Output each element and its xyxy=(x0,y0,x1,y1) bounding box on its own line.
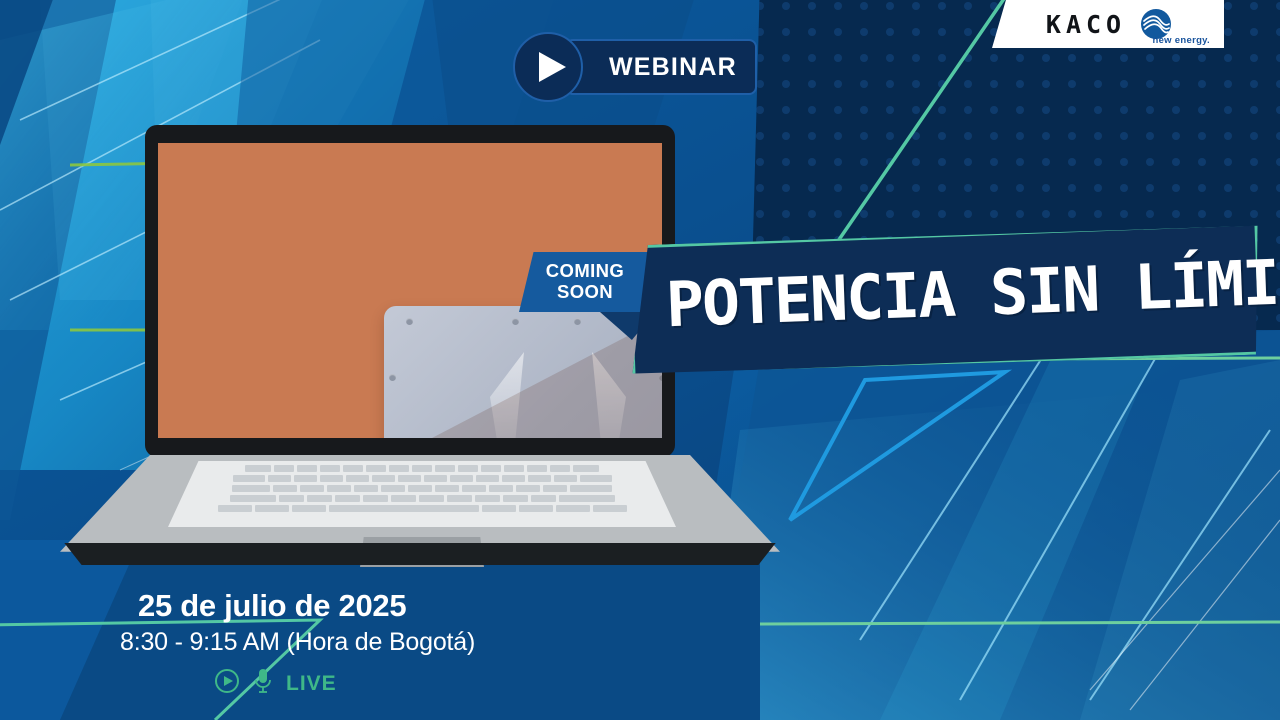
keyboard-row xyxy=(168,475,676,482)
kaco-logo: KACO new energy. xyxy=(992,0,1224,48)
keyboard-row xyxy=(168,505,676,512)
bolt-icon xyxy=(574,318,581,325)
webinar-label: WEBINAR xyxy=(609,53,737,82)
webinar-badge: WEBINAR xyxy=(513,32,761,102)
keyboard-row xyxy=(168,495,676,502)
microphone-icon xyxy=(254,667,272,700)
bolt-icon xyxy=(389,374,396,381)
coming-soon-line-2: SOON xyxy=(557,282,613,303)
kaco-wordmark: KACO xyxy=(1040,12,1126,37)
play-circle-icon xyxy=(214,668,240,699)
live-row: LIVE xyxy=(214,667,540,700)
bolt-icon xyxy=(406,318,413,325)
event-date: 25 de julio de 2025 xyxy=(138,588,540,624)
play-triangle-icon xyxy=(539,52,566,82)
keyboard-row xyxy=(168,465,676,472)
webinar-promo-graphic: KACO new energy. WEBINAR xyxy=(0,0,1280,720)
coming-soon-line-1: COMING xyxy=(546,261,624,282)
event-time: 8:30 - 9:15 AM (Hora de Bogotá) xyxy=(120,628,540,657)
laptop-keyboard xyxy=(168,461,676,527)
headline-banner: POTENCIA SIN LÍMITES xyxy=(628,223,1262,378)
bolt-icon xyxy=(512,318,519,325)
event-info: 25 de julio de 2025 8:30 - 9:15 AM (Hora… xyxy=(120,588,540,700)
kaco-tagline: new energy. xyxy=(1152,35,1210,46)
laptop-base-edge xyxy=(60,543,780,565)
keyboard-row xyxy=(168,485,676,492)
live-label: LIVE xyxy=(286,672,337,696)
